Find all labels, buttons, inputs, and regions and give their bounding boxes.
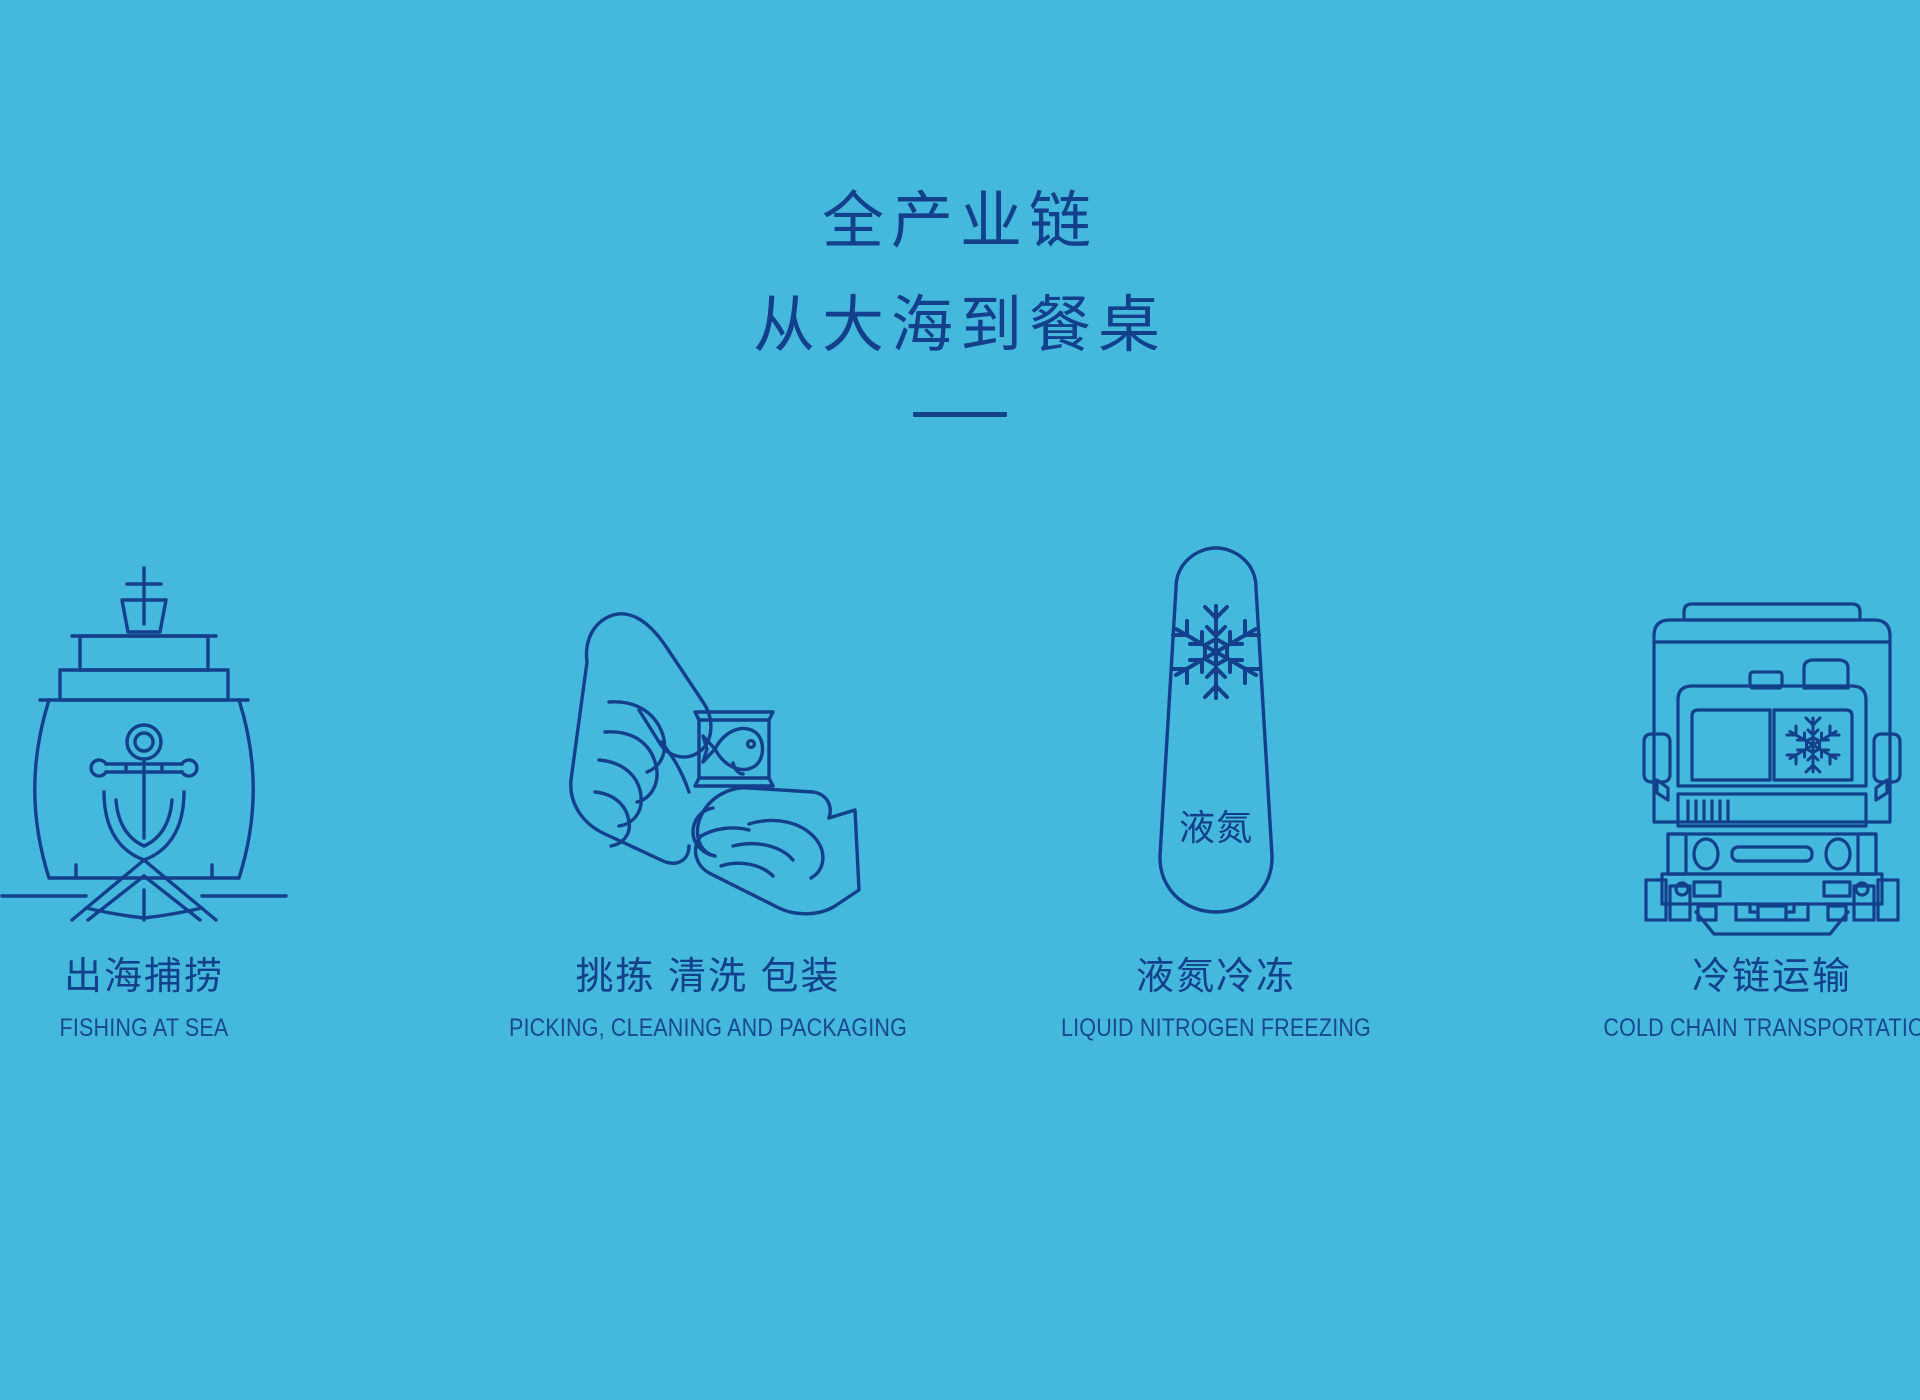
tank-label-text: 液氮 [1179, 807, 1253, 848]
header-block: 全产业链 从大海到餐桌 [0, 170, 1920, 417]
step-picking-cleaning-packaging: 挑拣 清洗 包装 PICKING, CLEANING AND PACKAGING [480, 520, 960, 1044]
step-4-artwork [1632, 520, 1912, 920]
liquid-nitrogen-tank-icon: 液氮 [1126, 540, 1306, 920]
step-2-artwork [543, 520, 873, 920]
page-title-line-2: 从大海到餐桌 [0, 274, 1920, 378]
step-cold-chain-transportation: 冷链运输 COLD CHAIN TRANSPORTATION [1440, 520, 1920, 1044]
step-fishing-at-sea: 出海捕捞 FISHING AT SEA [0, 520, 480, 1044]
step-3-artwork: 液氮 [1126, 520, 1306, 920]
step-3-label-cn: 液氮冷冻 [976, 952, 1456, 1002]
infographic-stage: 全产业链 从大海到餐桌 [0, 0, 1920, 1400]
step-1-labels: 出海捕捞 FISHING AT SEA [0, 952, 384, 1044]
refrigerated-truck-icon [1632, 590, 1912, 920]
hands-holding-packaged-fish-icon [543, 560, 873, 920]
step-4-label-en: COLD CHAIN TRANSPORTATION [1566, 1012, 1920, 1044]
step-1-label-en: FISHING AT SEA [0, 1012, 350, 1044]
step-liquid-nitrogen-freezing: 液氮 液氮冷冻 LIQUID NITROGEN FREEZING [960, 520, 1440, 1044]
title-divider [913, 412, 1007, 417]
fishing-boat-icon [0, 560, 294, 920]
step-4-labels: 冷链运输 COLD CHAIN TRANSPORTATION [1532, 952, 1920, 1044]
step-3-labels: 液氮冷冻 LIQUID NITROGEN FREEZING [976, 952, 1456, 1044]
step-1-label-cn: 出海捕捞 [0, 952, 384, 1002]
step-2-label-en: PICKING, CLEANING AND PACKAGING [502, 1012, 915, 1044]
step-1-artwork [0, 520, 294, 920]
snowflake-icon [1173, 606, 1259, 698]
process-steps-row: 出海捕捞 FISHING AT SEA [0, 520, 1920, 1044]
step-3-label-en: LIQUID NITROGEN FREEZING [1010, 1012, 1423, 1044]
page-title-line-1: 全产业链 [0, 170, 1920, 274]
step-2-label-cn: 挑拣 清洗 包装 [468, 952, 948, 1002]
step-2-labels: 挑拣 清洗 包装 PICKING, CLEANING AND PACKAGING [468, 952, 948, 1044]
title-divider-wrap [0, 412, 1920, 417]
step-4-label-cn: 冷链运输 [1532, 952, 1920, 1002]
snowflake-icon [1787, 718, 1839, 772]
